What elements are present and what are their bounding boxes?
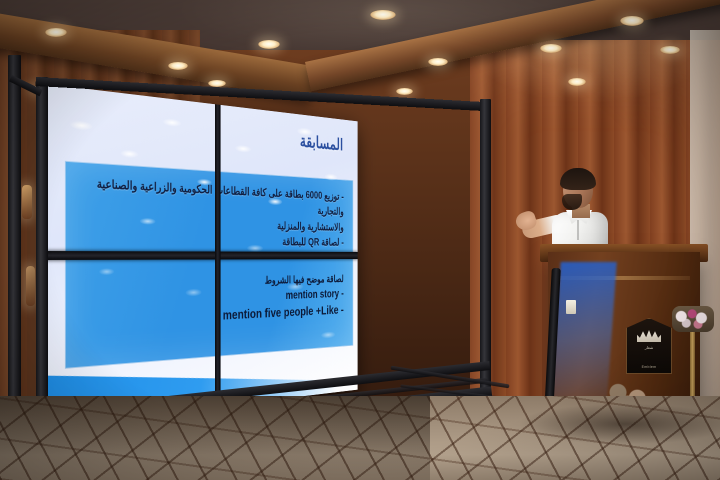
screen-glare [163, 118, 181, 127]
screen-glare [235, 145, 251, 153]
slide-title: المسابقة [300, 131, 343, 155]
emblem-text-en: Emblem [627, 365, 671, 369]
slide-content-box: - توزيع 6000 بطاقة على كافة القطاعات الح… [65, 161, 353, 369]
frame-post-right [480, 99, 491, 399]
downlight-icon [370, 10, 396, 20]
podium-floor-shadow [520, 404, 720, 444]
video-wall[interactable]: المسابقة - توزيع 6000 بطاقة على كافة الق… [0, 55, 500, 455]
video-wall-seam-horizontal [38, 251, 358, 260]
speaker-hair [560, 168, 596, 190]
name-badge [566, 300, 576, 314]
podium-emblem: شعار Emblem [626, 318, 672, 374]
video-wall-seam-vertical [215, 104, 221, 407]
downlight-icon [45, 28, 67, 37]
frame-post-left-front [8, 55, 21, 453]
screen-glare [121, 149, 139, 158]
flower-stand-arrangement [672, 306, 714, 332]
downlight-icon [620, 16, 644, 26]
floor-shadow-left [0, 396, 430, 480]
slide-line-3: - لصاقة QR للبطاقة [80, 231, 344, 251]
frame-post-left-back [36, 77, 48, 439]
photo-scene: المسابقة - توزيع 6000 بطاقة على كافة الق… [0, 0, 720, 480]
downlight-icon [660, 46, 680, 54]
emblem-text-ar: شعار [627, 345, 671, 351]
downlight-icon [568, 78, 586, 86]
downlight-icon [258, 40, 280, 49]
presentation-slide: المسابقة - توزيع 6000 بطاقة على كافة الق… [38, 83, 358, 428]
screen-glare [70, 120, 92, 131]
crown-icon [637, 330, 661, 342]
video-wall-screens[interactable]: المسابقة - توزيع 6000 بطاقة على كافة الق… [38, 83, 358, 428]
speaker-placket [577, 220, 579, 240]
downlight-icon [540, 44, 562, 53]
